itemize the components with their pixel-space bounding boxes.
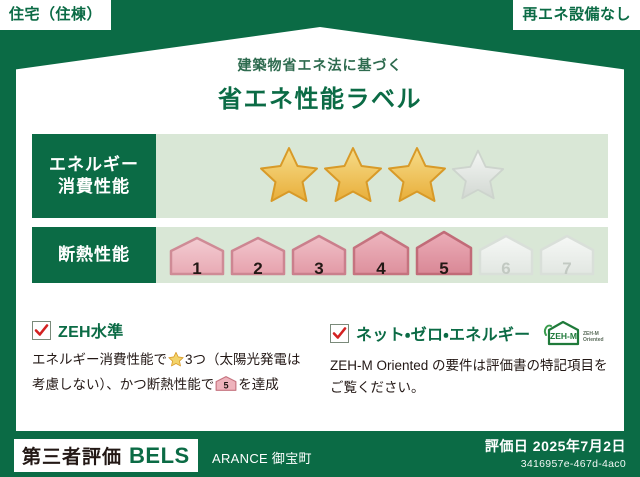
building-type-tag: 住宅（住棟）	[0, 0, 111, 30]
star-icon-filled-3	[386, 144, 448, 209]
renewable-energy-tag: 再エネ設備なし	[513, 0, 640, 30]
certification-header: ネット・ゼロ・エネルギー ZEH-M ZEH-M Oriented	[330, 318, 608, 348]
house-step-1: 1	[168, 236, 226, 281]
metric-value-insulation: 1 2	[156, 227, 608, 283]
svg-text:5: 5	[224, 380, 229, 390]
certification-net-zero-energy: ネット・ゼロ・エネルギー ZEH-M ZEH-M Oriented ZEH-M …	[330, 318, 608, 399]
certification-list: ZEH水準 エネルギー消費性能で3つ（太陽光発電は考慮しない）、かつ断熱性能で5…	[32, 318, 608, 399]
house-5-badge-icon-inline: 5	[215, 380, 237, 395]
energy-performance-label-card: 住宅（住棟） 再エネ設備なし 建築物省エネ法に基づく 省エネ性能ラベル エネルギ…	[0, 0, 640, 477]
star-rating	[258, 144, 506, 209]
certification-description: エネルギー消費性能で3つ（太陽光発電は考慮しない）、かつ断熱性能で5を達成	[32, 349, 310, 399]
check-icon	[330, 324, 349, 343]
bels-badge: 第三者評価 BELS	[14, 439, 198, 472]
metric-label-insulation: 断熱性能	[32, 227, 156, 283]
house-step-label: 1	[168, 260, 226, 277]
certification-zeh-standard: ZEH水準 エネルギー消費性能で3つ（太陽光発電は考慮しない）、かつ断熱性能で5…	[32, 318, 310, 399]
house-step-label: 3	[290, 260, 348, 277]
building-name: ARANCE 御宝町	[212, 448, 312, 467]
metric-label-line1: エネルギー	[49, 154, 139, 176]
certification-text-part1: エネルギー消費性能で	[32, 352, 167, 367]
evaluation-date-value: 2025年7月2日	[533, 438, 626, 454]
house-step-label: 6	[477, 260, 535, 277]
metric-row-energy-consumption: エネルギー 消費性能	[32, 134, 608, 218]
house-step-4: 4	[351, 230, 411, 281]
house-step-3: 3	[290, 234, 348, 281]
metric-rows: エネルギー 消費性能	[32, 134, 608, 283]
house-step-7: 7	[538, 234, 596, 281]
certification-header: ZEH水準	[32, 318, 310, 342]
evaluation-id: 3416957e-467d-4ac0	[485, 458, 626, 470]
certification-description: ZEH-M Oriented の要件は評価書の特記項目をご覧ください。	[330, 355, 608, 399]
svg-text:ZEH-M: ZEH-M	[551, 331, 578, 341]
certification-title: ネット・ゼロ・エネルギー	[356, 321, 530, 345]
evaluation-info: 評価日 2025年7月2日 3416957e-467d-4ac0	[485, 436, 626, 470]
metric-value-energy-consumption	[156, 134, 608, 218]
metric-row-insulation: 断熱性能 1	[32, 227, 608, 283]
certification-text-part3: を達成	[238, 377, 279, 392]
metric-label-energy-consumption: エネルギー 消費性能	[32, 134, 156, 218]
certification-title: ZEH水準	[58, 318, 124, 342]
evaluation-date-label: 評価日	[485, 438, 529, 454]
house-step-label: 2	[229, 260, 287, 277]
star-icon-empty-4	[450, 147, 506, 206]
evaluation-date: 評価日 2025年7月2日	[485, 436, 626, 456]
bels-en-label: BELS	[129, 443, 190, 469]
svg-text:Oriented: Oriented	[583, 337, 604, 343]
house-step-label: 4	[351, 260, 411, 277]
house-step-label: 7	[538, 260, 596, 277]
bels-jp-label: 第三者評価	[22, 442, 122, 469]
house-step-label: 5	[414, 260, 474, 277]
metric-label-line2: 消費性能	[58, 176, 130, 198]
house-step-6: 6	[477, 234, 535, 281]
label-footer: 第三者評価 BELS ARANCE 御宝町 評価日 2025年7月2日 3416…	[0, 431, 640, 477]
star-icon-inline	[168, 355, 184, 370]
house-step-5: 5	[414, 230, 474, 281]
check-icon	[32, 321, 51, 340]
metric-label-line1: 断熱性能	[58, 244, 130, 266]
title-subtitle: 建築物省エネ法に基づく	[0, 55, 640, 75]
house-step-2: 2	[229, 236, 287, 281]
star-icon-filled-2	[322, 144, 384, 209]
insulation-grade-scale: 1 2	[168, 230, 596, 281]
label-title-block: 建築物省エネ法に基づく 省エネ性能ラベル	[0, 55, 640, 114]
star-icon-filled-1	[258, 144, 320, 209]
page-title: 省エネ性能ラベル	[0, 79, 640, 114]
zeh-m-logo-icon: ZEH-M ZEH-M Oriented	[540, 318, 604, 348]
